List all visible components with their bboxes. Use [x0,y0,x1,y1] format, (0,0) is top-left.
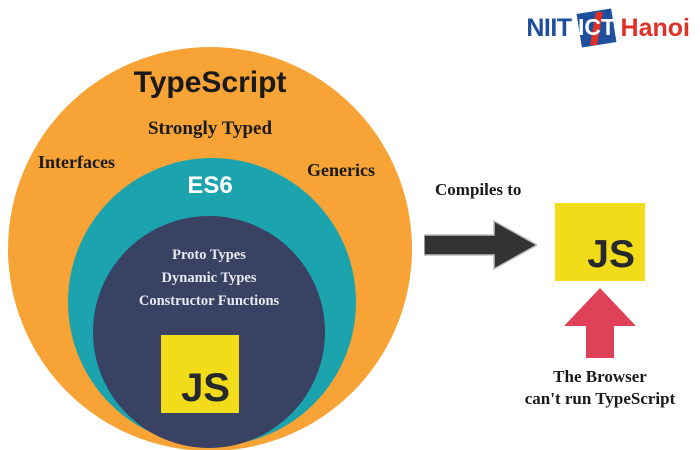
label-typescript: TypeScript [0,66,420,100]
logo-text-niit: NIIT [526,16,571,41]
logo-ict-badge-icon: ICT [575,9,619,47]
label-javascript-features: Proto TypesDynamic TypesConstructor Func… [93,244,325,313]
js-badge-output-label: JS [587,237,635,273]
label-interfaces: Interfaces [38,152,115,173]
diagram-canvas: NIIT ICT Hanoi TypeScript Strongly Typed… [0,0,700,450]
js-badge-inner-label: JS [181,370,230,407]
caption-browser-limitation: The Browsercan't run TypeScript [492,366,700,410]
label-es6: ES6 [0,172,420,200]
logo-text-hanoi: Hanoi [621,16,690,41]
niit-ict-hanoi-logo: NIIT ICT Hanoi [526,8,690,48]
js-badge-inner: JS [161,335,239,413]
label-compiles-to: Compiles to [435,180,521,200]
js-badge-output: JS [555,203,645,281]
compiles-to-arrow-icon [424,219,537,271]
label-strongly-typed: Strongly Typed [0,118,420,140]
logo-text-ict: ICT [575,16,619,39]
browser-up-arrow-icon [564,288,636,358]
